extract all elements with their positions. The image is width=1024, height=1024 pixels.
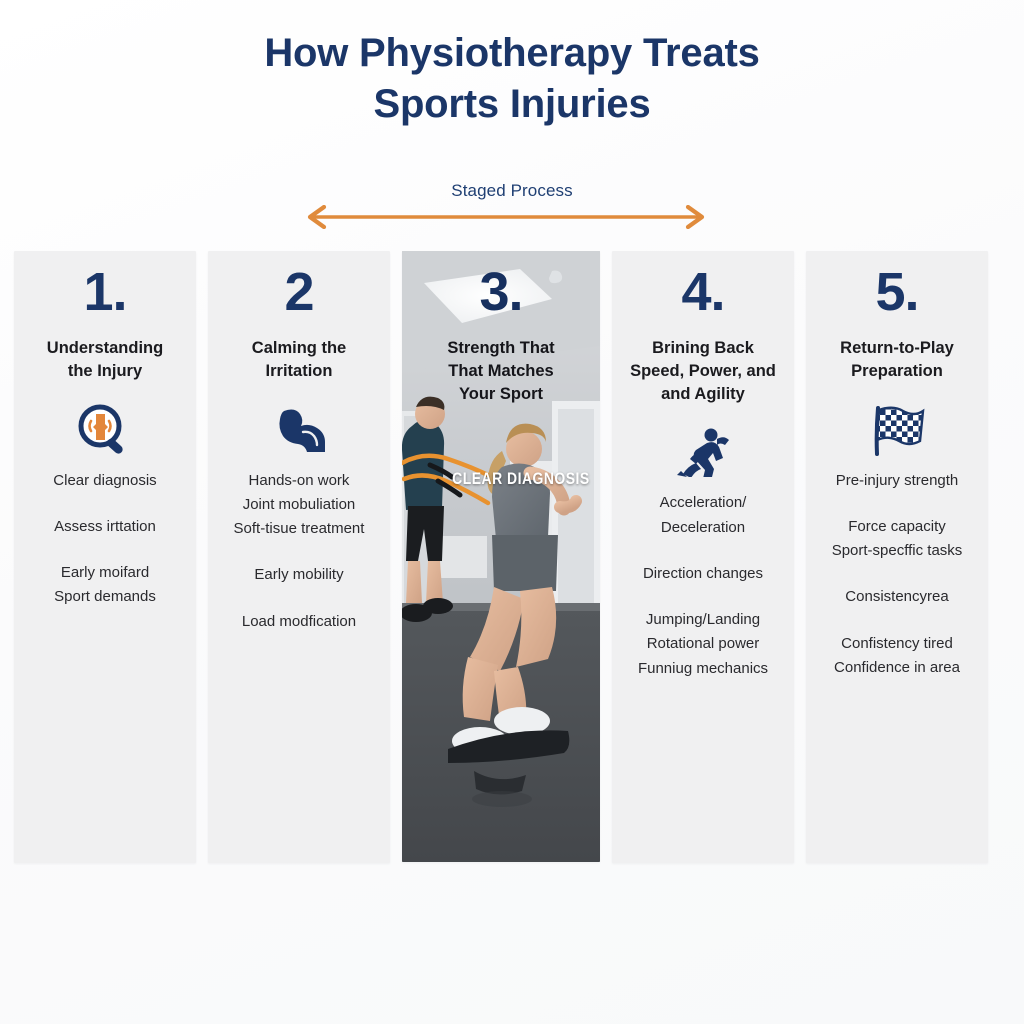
bullet-group: Direction changes [620, 562, 786, 586]
bullet-group: Force capacity Sport-specffic tasks [814, 515, 980, 564]
bullet-item: Sport demands [22, 585, 188, 609]
bullet-item: Funniug mechanics [620, 657, 786, 681]
stage-heading-1-line-1: Understanding [22, 337, 188, 360]
stage-heading-4-line-1: Brining Back [620, 337, 786, 360]
running-person-icon [620, 423, 786, 481]
bullet-item: Early mobility [216, 563, 382, 587]
bullet-item: Joint mobuliation [216, 493, 382, 517]
stage-heading-3-line-2: That Matches [410, 360, 592, 383]
bullet-item: Hands-on work [216, 469, 382, 493]
stage-heading-5-line-2: Preparation [814, 360, 980, 383]
stage-bullets-4: Acceleration/ Deceleration Direction cha… [620, 491, 786, 681]
page-title: How Physiotherapy Treats Sports Injuries [0, 28, 1024, 130]
photo-caption: CLEAR DIAGNOSIS [452, 469, 590, 489]
stage-column-2[interactable]: 2 Calming the Irritation Hands-on work J… [208, 251, 390, 863]
bullet-item: Direction changes [620, 562, 786, 586]
stage-heading-3: Strength That That Matches Your Sport [410, 337, 592, 405]
bullet-group: Early moifard Sport demands [22, 561, 188, 610]
stage-number-3: 3. [410, 265, 592, 319]
stage-column-4[interactable]: 4. Brining Back Speed, Power, and and Ag… [612, 251, 794, 863]
title-line-1: How Physiotherapy Treats [0, 28, 1024, 79]
bullet-item: Early moifard [22, 561, 188, 585]
infographic-canvas: How Physiotherapy Treats Sports Injuries… [0, 0, 1024, 1024]
stage-heading-2-line-1: Calming the [216, 337, 382, 360]
stage-bullets-1: Clear diagnosis Assess irttation Early m… [22, 469, 188, 610]
flexed-bicep-icon [216, 401, 382, 459]
stage-3-overlay: 3. Strength That That Matches Your Sport… [402, 251, 600, 862]
title-line-2: Sports Injuries [0, 79, 1024, 130]
bullet-item: Consistencyrea [814, 585, 980, 609]
stage-heading-4-line-3: and Agility [620, 383, 786, 406]
stage-heading-1-line-2: the Injury [22, 360, 188, 383]
stage-column-1[interactable]: 1. Understanding the Injury Clear diagno… [14, 251, 196, 863]
bullet-group: Clear diagnosis [22, 469, 188, 493]
stage-heading-3-line-1: Strength That [410, 337, 592, 360]
bullet-group: Acceleration/ Deceleration [620, 491, 786, 540]
stage-heading-4: Brining Back Speed, Power, and and Agili… [620, 337, 786, 405]
bullet-group: Jumping/Landing Rotational power Funniug… [620, 608, 786, 681]
stage-heading-1: Understanding the Injury [22, 337, 188, 383]
stage-heading-5: Return-to-Play Preparation [814, 337, 980, 383]
stage-heading-4-line-2: Speed, Power, and [620, 360, 786, 383]
stage-heading-3-line-3: Your Sport [410, 383, 592, 406]
bullet-item: Assess irttation [22, 515, 188, 539]
stage-number-1: 1. [22, 265, 188, 319]
bullet-item: Rotational power [620, 632, 786, 656]
stage-heading-2-line-2: Irritation [216, 360, 382, 383]
stage-bullets-5: Pre-injury strength Force capacity Sport… [814, 469, 980, 681]
checkered-flag-icon [814, 401, 980, 459]
bullet-group: Early mobility [216, 563, 382, 587]
bullet-item: Jumping/Landing [620, 608, 786, 632]
stage-column-5[interactable]: 5. Return-to-Play Preparation [806, 251, 988, 863]
bullet-item: Deceleration [620, 516, 786, 540]
stage-bullets-2: Hands-on work Joint mobuliation Soft-tis… [216, 469, 382, 634]
stage-number-2: 2 [216, 265, 382, 319]
bullet-item: Pre-injury strength [814, 469, 980, 493]
bullet-item: Confistency tired [814, 632, 980, 656]
stage-column-3[interactable]: 3. Strength That That Matches Your Sport… [402, 251, 600, 862]
bullet-item: Clear diagnosis [22, 469, 188, 493]
stage-columns: 1. Understanding the Injury Clear diagno… [14, 251, 1010, 863]
bullet-item: Confidence in area [814, 656, 980, 680]
bullet-group: Load modfication [216, 610, 382, 634]
bullet-group: Consistencyrea [814, 585, 980, 609]
staged-process-label: Staged Process [0, 181, 1024, 201]
bullet-group: Hands-on work Joint mobuliation Soft-tis… [216, 469, 382, 542]
bullet-item: Load modfication [216, 610, 382, 634]
stage-number-5: 5. [814, 265, 980, 319]
double-headed-arrow-icon [300, 205, 712, 229]
stage-heading-2: Calming the Irritation [216, 337, 382, 383]
stage-heading-5-line-1: Return-to-Play [814, 337, 980, 360]
stage-number-4: 4. [620, 265, 786, 319]
bullet-group: Pre-injury strength [814, 469, 980, 493]
bullet-item: Soft-tisue treatment [216, 517, 382, 541]
bullet-item: Acceleration/ [620, 491, 786, 515]
bullet-item: Sport-specffic tasks [814, 539, 980, 563]
bullet-item: Force capacity [814, 515, 980, 539]
bullet-group: Assess irttation [22, 515, 188, 539]
magnifying-glass-joint-icon [22, 401, 188, 459]
bullet-group: Confistency tired Confidence in area [814, 632, 980, 681]
